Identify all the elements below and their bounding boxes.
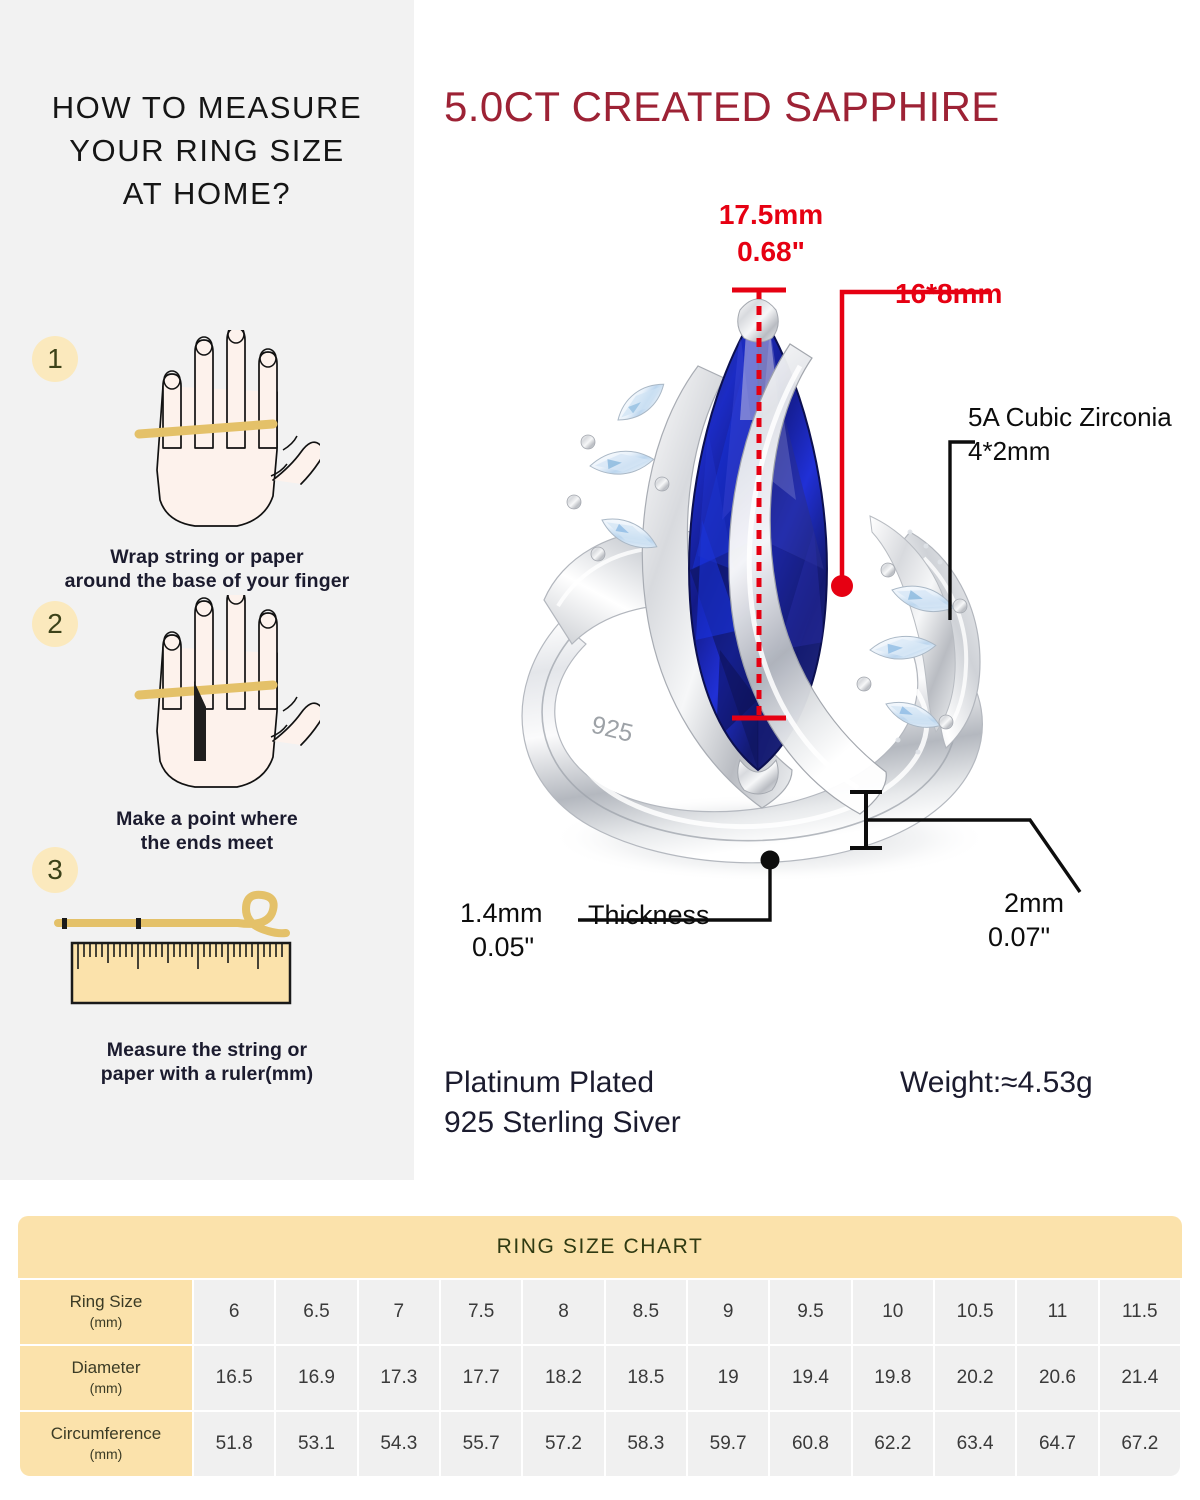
page-title-line-3: AT HOME? [0,172,414,215]
step-3-caption-line-1: Measure the string or [0,1038,414,1062]
table-cell: 7 [359,1280,439,1344]
table-cell: 55.7 [441,1412,521,1476]
table-cell: 6 [194,1280,274,1344]
table-cell: 11 [1017,1280,1097,1344]
stone-height-annotation: 17.5mm 0.68" [706,196,836,270]
table-cell: 17.7 [441,1346,521,1410]
step-2-caption-line-1: Make a point where [0,807,414,831]
table-cell: 21.4 [1100,1346,1180,1410]
row-header: Ring Size(mm) [20,1280,192,1344]
table-cell: 57.2 [523,1412,603,1476]
band-width-in: 0.07" [988,922,1050,953]
cz-size: 4*2mm [968,434,1172,468]
table-cell: 51.8 [194,1412,274,1476]
table-cell: 64.7 [1017,1412,1097,1476]
table-cell: 7.5 [441,1280,521,1344]
table-cell: 60.8 [770,1412,850,1476]
ruler-with-string-icon [52,887,312,1017]
table-cell: 9.5 [770,1280,850,1344]
step-2-badge: 2 [32,601,78,647]
table-cell: 11.5 [1100,1280,1180,1344]
table-cell: 18.5 [606,1346,686,1410]
stone-height-in: 0.68" [706,233,836,270]
table-cell: 67.2 [1100,1412,1180,1476]
page-title-line-2: YOUR RING SIZE [0,129,414,172]
stone-height-mm: 17.5mm [706,196,836,233]
stone-size-annotation: 16*8mm [895,278,1002,310]
table-cell: 20.6 [1017,1346,1097,1410]
hand-with-string-icon [105,330,320,535]
table-row: Ring Size(mm)66.577.588.599.51010.51111.… [20,1280,1180,1344]
row-header: Circumference(mm) [20,1412,192,1476]
ring-size-chart: RING SIZE CHART Ring Size(mm)66.577.588.… [18,1216,1182,1478]
table-cell: 59.7 [688,1412,768,1476]
table-cell: 19 [688,1346,768,1410]
band-width-mm: 2mm [1004,888,1064,919]
how-to-measure-panel: HOW TO MEASURE YOUR RING SIZE AT HOME? 1 [0,0,414,1180]
table-cell: 20.2 [935,1346,1015,1410]
table-cell: 6.5 [276,1280,356,1344]
weight-info: Weight:≈4.53g [900,1063,1093,1103]
table-cell: 10.5 [935,1280,1015,1344]
table-cell: 54.3 [359,1412,439,1476]
cz-annotation: 5A Cubic Zirconia 4*2mm [968,400,1172,468]
table-row: Diameter(mm)16.516.917.317.718.218.51919… [20,1346,1180,1410]
page-title: HOW TO MEASURE YOUR RING SIZE AT HOME? [0,86,414,215]
table-cell: 16.5 [194,1346,274,1410]
step-1-caption: Wrap string or paper around the base of … [0,545,414,593]
hand-with-marker-icon [105,595,320,795]
row-header: Diameter(mm) [20,1346,192,1410]
thickness-in: 0.05" [472,932,534,963]
step-1-badge: 1 [32,336,78,382]
table-cell: 17.3 [359,1346,439,1410]
table-cell: 53.1 [276,1412,356,1476]
cz-label: 5A Cubic Zirconia [968,400,1172,434]
table-cell: 19.4 [770,1346,850,1410]
table-cell: 8.5 [606,1280,686,1344]
step-3-caption-line-2: paper with a ruler(mm) [0,1062,414,1086]
table-cell: 63.4 [935,1412,1015,1476]
ring-size-chart-title: RING SIZE CHART [18,1216,1182,1278]
ring-size-table: Ring Size(mm)66.577.588.599.51010.51111.… [18,1278,1182,1478]
infographic-top: HOW TO MEASURE YOUR RING SIZE AT HOME? 1 [0,0,1200,1180]
table-row: Circumference(mm)51.853.154.355.757.258.… [20,1412,1180,1476]
table-cell: 58.3 [606,1412,686,1476]
step-1-caption-line-1: Wrap string or paper [0,545,414,569]
table-cell: 10 [853,1280,933,1344]
material-info: Platinum Plated 925 Sterling Siver [444,1063,681,1143]
thickness-mm: 1.4mm [460,898,543,929]
step-1-caption-line-2: around the base of your finger [0,569,414,593]
material-line-1: Platinum Plated [444,1063,681,1103]
page-title-line-1: HOW TO MEASURE [0,86,414,129]
thickness-label: Thickness [588,900,710,931]
table-cell: 19.8 [853,1346,933,1410]
material-line-2: 925 Sterling Siver [444,1103,681,1143]
table-cell: 16.9 [276,1346,356,1410]
table-cell: 62.2 [853,1412,933,1476]
step-3-caption: Measure the string or paper with a ruler… [0,1038,414,1086]
table-cell: 8 [523,1280,603,1344]
table-cell: 18.2 [523,1346,603,1410]
product-title: 5.0CT CREATED SAPPHIRE [444,83,1000,131]
table-cell: 9 [688,1280,768,1344]
